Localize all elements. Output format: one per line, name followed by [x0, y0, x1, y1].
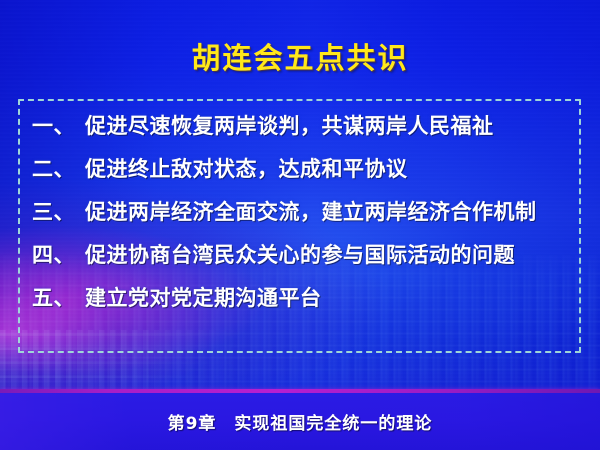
list-item-text: 促进协商台湾民众关心的参与国际活动的问题 [85, 239, 515, 269]
list-item-number: 四、 [32, 239, 75, 269]
presentation-slide: 胡连会五点共识 一、 促进尽速恢复两岸谈判，共谋两岸人民福祉 二、 促进终止敌对… [0, 0, 600, 450]
list-item-number: 一、 [32, 110, 75, 140]
list-item: 一、 促进尽速恢复两岸谈判，共谋两岸人民福祉 [32, 110, 579, 153]
list-item: 五、 建立党对党定期沟通平台 [32, 282, 579, 325]
footer-chapter-title: 第9章 实现祖国完全统一的理论 [0, 409, 600, 434]
list-item-number: 三、 [32, 196, 75, 226]
list-item-number: 五、 [32, 282, 75, 312]
list-item-text: 促进终止敌对状态，达成和平协议 [85, 153, 408, 183]
consensus-list: 一、 促进尽速恢复两岸谈判，共谋两岸人民福祉 二、 促进终止敌对状态，达成和平协… [20, 101, 579, 351]
list-item-number: 二、 [32, 153, 75, 183]
slide-title: 胡连会五点共识 [0, 40, 600, 76]
list-item-text: 促进尽速恢复两岸谈判，共谋两岸人民福祉 [85, 110, 494, 140]
list-item-text: 建立党对党定期沟通平台 [85, 282, 322, 312]
list-item: 四、 促进协商台湾民众关心的参与国际活动的问题 [32, 239, 579, 282]
list-item: 三、 促进两岸经济全面交流，建立两岸经济合作机制 [32, 196, 579, 239]
content-box: 一、 促进尽速恢复两岸谈判，共谋两岸人民福祉 二、 促进终止敌对状态，达成和平协… [18, 99, 581, 353]
list-item-text: 促进两岸经济全面交流，建立两岸经济合作机制 [85, 196, 537, 226]
list-item: 二、 促进终止敌对状态，达成和平协议 [32, 153, 579, 196]
